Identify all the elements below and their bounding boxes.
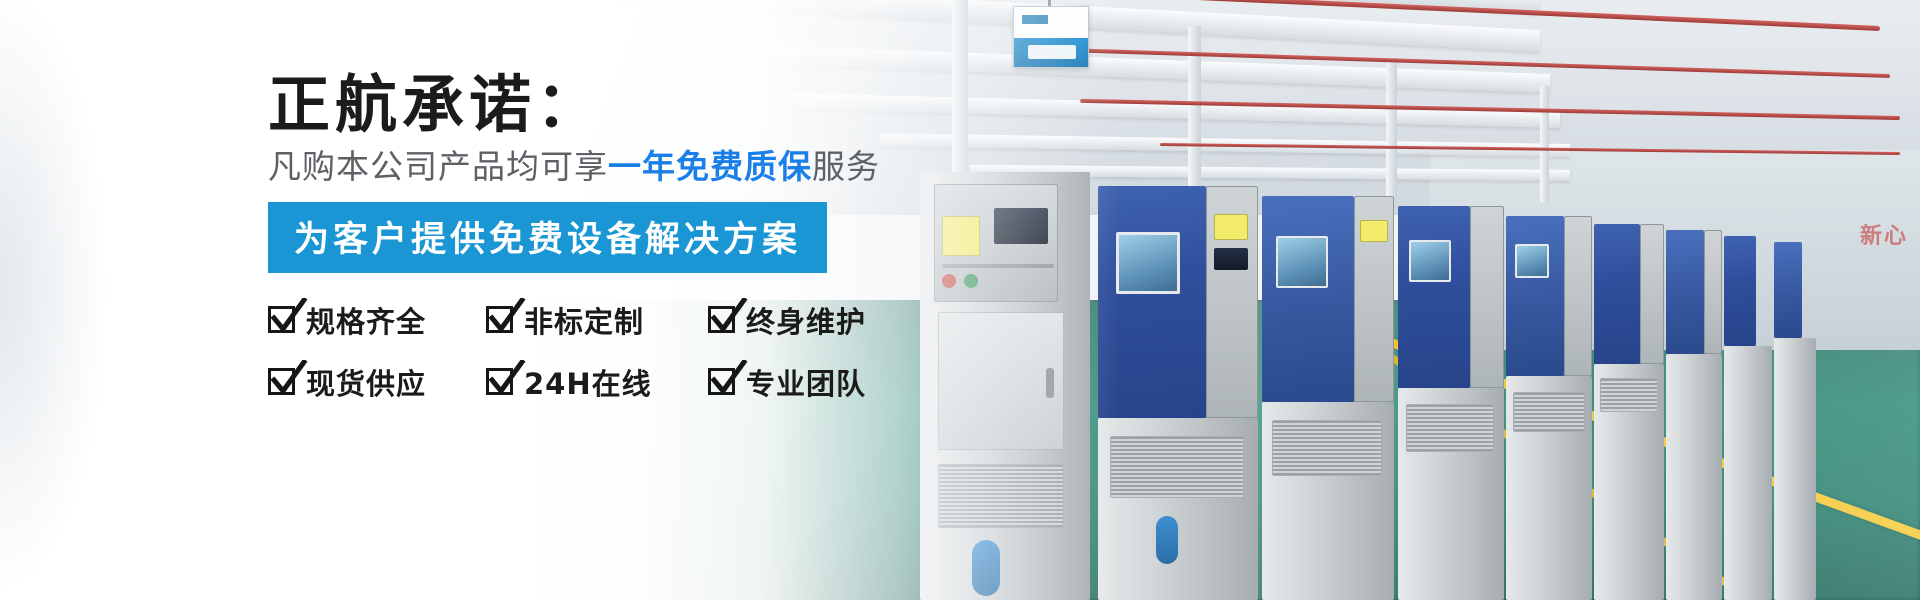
banner-content: 正航承诺： 凡购本公司产品均可享一年免费质保服务 为客户提供免费设备解决方案 规… bbox=[268, 72, 948, 423]
chamber-vent-grille bbox=[1406, 404, 1494, 452]
feature-label: 现货供应 bbox=[306, 361, 426, 403]
chamber-cabinet-blue bbox=[1262, 196, 1354, 402]
chamber-cabinet-blue bbox=[1398, 206, 1470, 388]
checkbox-checked-icon bbox=[486, 306, 513, 333]
checkbox-checked-icon bbox=[708, 306, 735, 333]
feature-item-0: 规格齐全 bbox=[268, 299, 486, 341]
chamber-cabinet-blue bbox=[1774, 242, 1802, 338]
chamber-control-panel bbox=[1470, 206, 1504, 388]
checkbox-checked-icon bbox=[486, 368, 513, 395]
chamber-base bbox=[1666, 354, 1722, 600]
chamber-base bbox=[1774, 338, 1816, 600]
chamber-cabinet-blue bbox=[1724, 236, 1756, 346]
promo-banner: 新心 bbox=[0, 0, 1920, 600]
chamber-viewport bbox=[1515, 244, 1549, 278]
ceiling-column bbox=[1386, 58, 1397, 198]
chamber-viewport bbox=[1116, 232, 1180, 294]
checkbox-checked-icon bbox=[268, 368, 295, 395]
chamber-cabinet-blue bbox=[1594, 224, 1640, 364]
chamber-display bbox=[1214, 248, 1248, 270]
chamber-warning-label bbox=[1214, 214, 1248, 240]
subtitle-prefix: 凡购本公司产品均可享 bbox=[268, 148, 608, 185]
chamber-vent-grille bbox=[1110, 436, 1244, 498]
chamber-warning-label bbox=[1360, 220, 1388, 242]
test-chamber bbox=[1774, 242, 1816, 600]
feature-label: 终身维护 bbox=[746, 299, 866, 341]
feature-item-5: 专业团队 bbox=[708, 361, 908, 403]
chamber-viewport bbox=[1409, 240, 1451, 282]
chamber-control-panel bbox=[1564, 216, 1592, 376]
feature-item-4: 24H在线 bbox=[486, 361, 708, 403]
feature-row: 现货供应 24H在线 专业团队 bbox=[268, 361, 948, 403]
page-title: 正航承诺： bbox=[268, 72, 948, 138]
far-wall-text: 新心 bbox=[1860, 218, 1908, 250]
chamber-accent-stripe bbox=[1156, 516, 1178, 564]
feature-item-1: 非标定制 bbox=[486, 299, 708, 341]
chamber-vent-grille bbox=[1513, 392, 1585, 432]
subtitle: 凡购本公司产品均可享一年免费质保服务 bbox=[268, 148, 948, 186]
feature-item-3: 现货供应 bbox=[268, 361, 486, 403]
feature-label: 非标定制 bbox=[524, 299, 644, 341]
chamber-base bbox=[1724, 346, 1772, 600]
feature-row: 规格齐全 非标定制 终身维护 bbox=[268, 299, 948, 341]
feature-label: 24H在线 bbox=[524, 361, 652, 403]
test-chamber bbox=[1594, 224, 1664, 600]
test-chamber bbox=[1666, 230, 1722, 600]
chamber-vent-grille bbox=[1272, 420, 1382, 476]
checkbox-checked-icon bbox=[268, 306, 295, 333]
highlight-ribbon-label: 为客户提供免费设备解决方案 bbox=[294, 220, 801, 260]
checkbox-checked-icon bbox=[708, 368, 735, 395]
test-chamber bbox=[1724, 236, 1772, 600]
chamber-control-panel bbox=[1640, 224, 1664, 364]
feature-label: 规格齐全 bbox=[306, 299, 426, 341]
chamber-cabinet-blue bbox=[1506, 216, 1564, 376]
chamber-cabinet-blue bbox=[1666, 230, 1704, 354]
test-chamber bbox=[1506, 216, 1592, 600]
decorative-swoosh bbox=[0, 0, 270, 600]
chamber-vent-grille bbox=[1600, 378, 1658, 412]
chamber-control-panel bbox=[1704, 230, 1722, 354]
highlight-ribbon: 为客户提供免费设备解决方案 bbox=[268, 202, 827, 273]
chamber-viewport bbox=[1276, 236, 1328, 288]
ceiling-column bbox=[1540, 86, 1549, 202]
feature-item-2: 终身维护 bbox=[708, 299, 908, 341]
subtitle-highlight: 一年免费质保 bbox=[608, 148, 812, 185]
test-chamber bbox=[1398, 206, 1504, 600]
test-chamber bbox=[1262, 196, 1394, 600]
test-chamber bbox=[1098, 186, 1258, 600]
feature-label: 专业团队 bbox=[746, 361, 866, 403]
subtitle-suffix: 服务 bbox=[812, 148, 880, 185]
feature-list: 规格齐全 非标定制 终身维护 bbox=[268, 299, 948, 403]
